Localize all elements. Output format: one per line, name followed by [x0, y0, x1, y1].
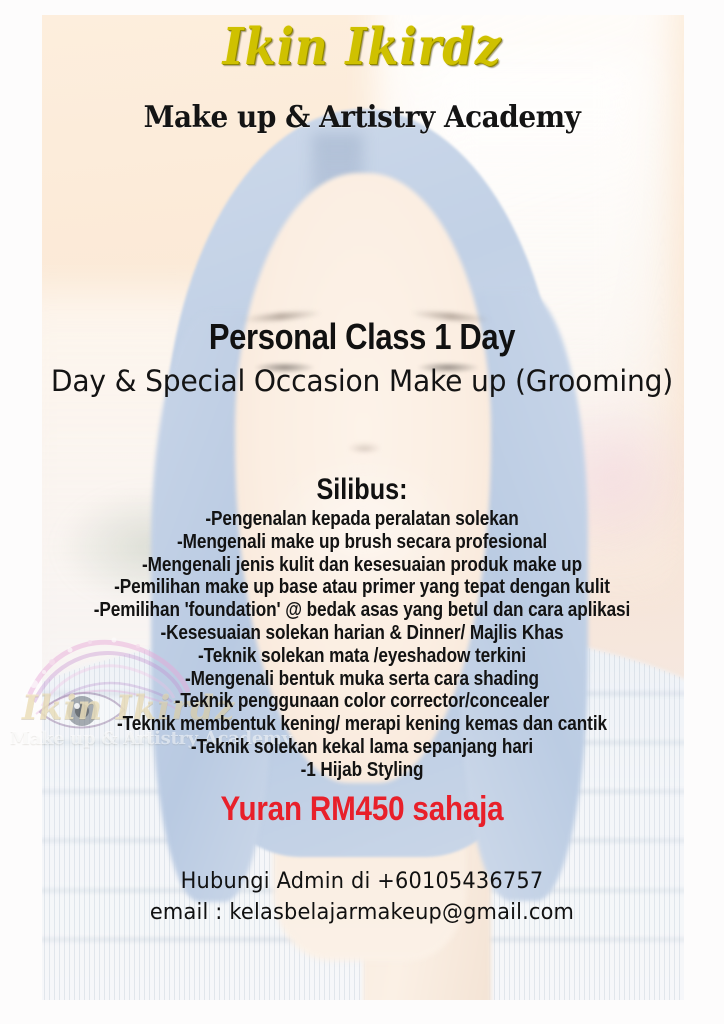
- price-label: Yuran RM450 sahaja: [47, 792, 677, 826]
- page-title: Personal Class 1 Day: [51, 319, 674, 355]
- syllabus-item: -Kesesuaian solekan harian & Dinner/ Maj…: [51, 622, 674, 645]
- poster-content: Ikin Ikirdz Make up & Artistry Academy P…: [0, 0, 724, 1024]
- brand-tagline: Make up & Artistry Academy: [25, 103, 698, 133]
- syllabus-item: -Pemilihan make up base atau primer yang…: [51, 576, 674, 599]
- page-subtitle: Day & Special Occasion Make up (Grooming…: [11, 367, 713, 396]
- syllabus-list: -Pengenalan kepada peralatan solekan-Men…: [0, 508, 724, 782]
- syllabus-heading: Silibus:: [58, 475, 666, 505]
- syllabus-item: -Mengenali bentuk muka serta cara shadin…: [51, 668, 674, 691]
- syllabus-item: -Mengenali make up brush secara profesio…: [51, 531, 674, 554]
- poster-canvas: Ikin Ikirdz Make up & Artistry Academy I…: [0, 0, 724, 1024]
- contact-phone: Hubungi Admin di +60105436757: [18, 871, 706, 893]
- syllabus-item: -Pengenalan kepada peralatan solekan: [51, 508, 674, 531]
- syllabus-item: -Teknik solekan mata /eyeshadow terkini: [51, 645, 674, 668]
- contact-email: email : kelasbelajarmakeup@gmail.com: [18, 902, 706, 924]
- syllabus-item: -Teknik penggunaan color corrector/conce…: [51, 690, 674, 713]
- syllabus-item: -Teknik membentuk kening/ merapi kening …: [51, 713, 674, 736]
- syllabus-item: -Teknik solekan kekal lama sepanjang har…: [51, 736, 674, 759]
- brand-script-name: Ikin Ikirdz: [0, 21, 724, 71]
- syllabus-item: -Pemilihan 'foundation' @ bedak asas yan…: [51, 599, 674, 622]
- syllabus-item: -1 Hijab Styling: [51, 759, 674, 782]
- syllabus-item: -Mengenali jenis kulit dan kesesuaian pr…: [51, 554, 674, 577]
